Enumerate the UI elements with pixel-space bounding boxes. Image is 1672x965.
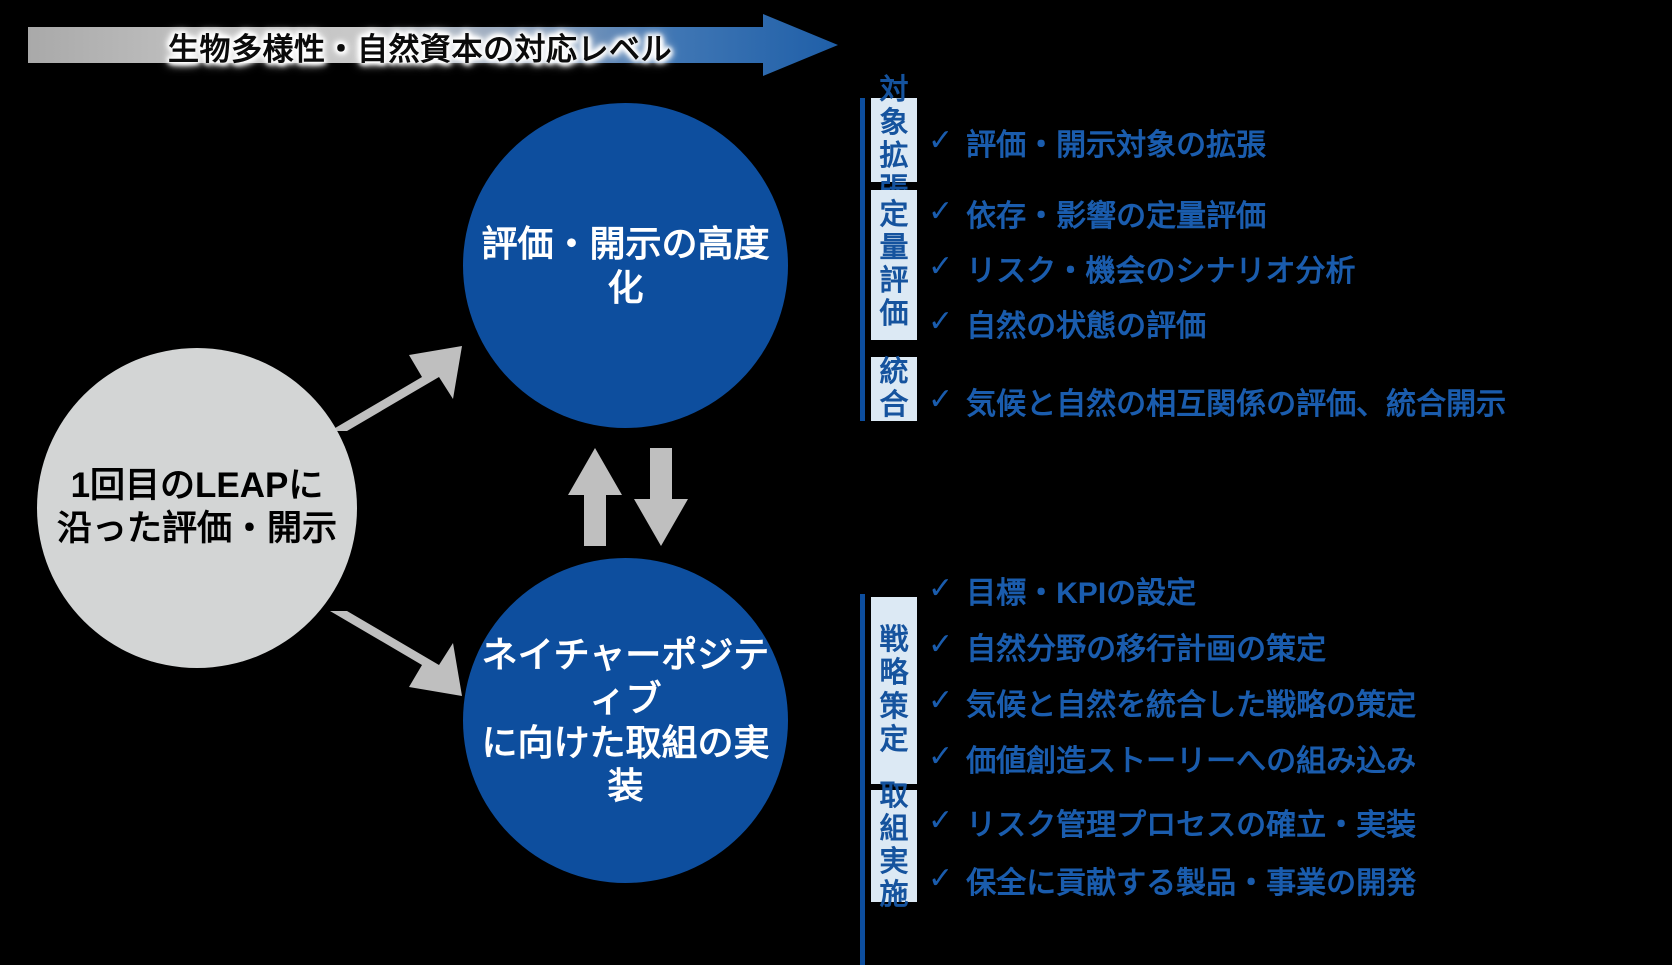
circle-advanced-disclosure-line1: 評価・開示の高度化 [471,222,780,310]
circle-advanced-disclosure: 評価・開示の高度化 [463,103,788,428]
right-arrow-banner-icon [28,14,838,76]
chip-initiative-execution-line2: 実施 [871,846,917,912]
check-icon: ✓ [928,864,953,894]
chip-quantitative-assessment: 定量 評価 [871,190,917,340]
check-icon: ✓ [928,197,953,227]
circle-first-leap: 1回目のLEAPに 沿った評価・開示 [37,348,357,668]
list-item: ✓ リスク管理プロセスの確立・実装 [928,800,1416,844]
chip-integration-line1: 統合 [871,356,917,422]
accent-rule-lower [860,594,865,965]
list-item: ✓ 評価・開示対象の拡張 [928,120,1266,164]
chip-quantitative-assessment-line1: 定量 [871,199,917,265]
list-item-label: 気候と自然を統合した戦略の策定 [966,680,1416,724]
list-item: ✓ 気候と自然の相互関係の評価、統合開示 [928,379,1506,423]
diagonal-arrow-up-right-icon [330,330,470,450]
list-item: ✓ 自然分野の移行計画の策定 [928,624,1326,668]
chip-scope-expansion: 対象 拡張 [871,98,917,182]
check-icon: ✓ [928,630,953,660]
list-item-label: リスク管理プロセスの確立・実装 [966,800,1416,844]
diagonal-arrow-down-right-icon [330,592,470,712]
check-icon: ✓ [928,686,953,716]
chip-quantitative-assessment-line2: 評価 [871,265,917,331]
chip-initiative-execution-line1: 取組 [871,780,917,846]
list-item-label: 自然の状態の評価 [966,301,1206,345]
check-icon: ✓ [928,742,953,772]
chip-strategy-formulation-line2: 策定 [871,691,917,757]
arrow-up-icon [568,448,622,546]
list-item-label: 評価・開示対象の拡張 [966,120,1266,164]
circle-nature-positive: ネイチャーポジティブ に向けた取組の実装 [463,558,788,883]
maturity-arrow-banner [28,14,838,76]
chip-strategy-formulation: 戦略 策定 [871,597,917,784]
list-item: ✓ リスク・機会のシナリオ分析 [928,246,1356,290]
circle-first-leap-line2: 沿った評価・開示 [57,508,337,551]
circle-first-leap-line1: 1回目のLEAPに [57,465,337,508]
list-item: ✓ 依存・影響の定量評価 [928,191,1266,235]
list-item-label: 目標・KPIの設定 [966,568,1196,612]
list-item-label: 価値創造ストーリーへの組み込み [966,736,1416,780]
list-item: ✓ 価値創造ストーリーへの組み込み [928,736,1416,780]
list-item: ✓ 自然の状態の評価 [928,301,1206,345]
circle-nature-positive-line1: ネイチャーポジティブ [471,633,780,721]
check-icon: ✓ [928,806,953,836]
list-item-label: 保全に貢献する製品・事業の開発 [966,858,1416,902]
chip-initiative-execution: 取組 実施 [871,790,917,902]
check-icon: ✓ [928,252,953,282]
list-item-label: リスク・機会のシナリオ分析 [966,246,1355,290]
check-icon: ✓ [928,307,953,337]
chip-scope-expansion-line1: 対象 [871,74,917,140]
list-item-label: 気候と自然の相互関係の評価、統合開示 [966,379,1506,423]
accent-rule-upper [860,98,865,421]
arrow-down-icon [634,448,688,546]
check-icon: ✓ [928,126,953,156]
diagram-canvas: 生物多様性・自然資本の対応レベル 1回目のLEAPに 沿った評価・開示 評価・開… [0,0,1672,965]
list-item: ✓ 目標・KPIの設定 [928,568,1196,612]
chip-integration: 統合 [871,357,917,421]
list-item: ✓ 保全に貢献する製品・事業の開発 [928,858,1416,902]
list-item-label: 自然分野の移行計画の策定 [966,624,1326,668]
check-icon: ✓ [928,574,953,604]
list-item-label: 依存・影響の定量評価 [966,191,1266,235]
circle-nature-positive-line2: に向けた取組の実装 [471,721,780,809]
chip-strategy-formulation-line1: 戦略 [871,624,917,690]
check-icon: ✓ [928,385,953,415]
list-item: ✓ 気候と自然を統合した戦略の策定 [928,680,1416,724]
